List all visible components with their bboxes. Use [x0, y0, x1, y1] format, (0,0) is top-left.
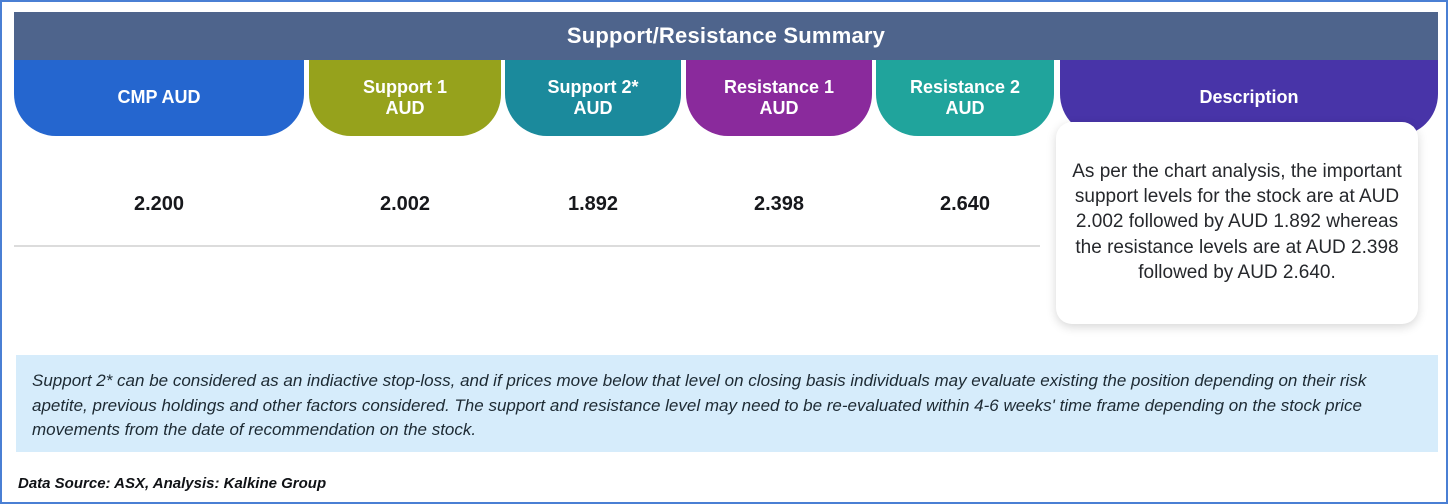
page-title: Support/Resistance Summary: [567, 25, 885, 47]
support-resistance-summary-panel: Support/Resistance Summary CMP AUD Suppo…: [0, 0, 1448, 504]
value-cmp: 2.200: [14, 194, 304, 214]
value-support2: 1.892: [505, 194, 681, 214]
description-text: As per the chart analysis, the important…: [1070, 159, 1404, 284]
column-header-cmp: CMP AUD: [14, 60, 304, 136]
disclaimer-note-text: Support 2* can be considered as an india…: [32, 369, 1422, 443]
value-support1: 2.002: [309, 194, 501, 214]
row-divider: [14, 245, 1040, 247]
column-header-resistance2: Resistance 2 AUD: [876, 60, 1054, 136]
value-resistance2: 2.640: [876, 194, 1054, 214]
panel-header-bar: Support/Resistance Summary: [14, 12, 1438, 60]
value-resistance1: 2.398: [686, 194, 872, 214]
column-header-support1-line2: AUD: [386, 98, 425, 119]
description-card: As per the chart analysis, the important…: [1056, 122, 1418, 324]
column-header-resistance2-line1: Resistance 2: [910, 77, 1020, 98]
column-header-description-line1: Description: [1199, 87, 1298, 108]
column-header-resistance1-line1: Resistance 1: [724, 77, 834, 98]
column-header-cmp-line1: CMP AUD: [117, 87, 200, 108]
data-source-label: Data Source: ASX, Analysis: Kalkine Grou…: [18, 476, 326, 491]
column-header-resistance2-line2: AUD: [946, 98, 985, 119]
column-header-resistance1: Resistance 1 AUD: [686, 60, 872, 136]
column-header-support1-line1: Support 1: [363, 77, 447, 98]
column-header-support1: Support 1 AUD: [309, 60, 501, 136]
column-header-support2-line2: AUD: [574, 98, 613, 119]
column-header-support2-line1: Support 2*: [547, 77, 638, 98]
column-header-support2: Support 2* AUD: [505, 60, 681, 136]
disclaimer-note-box: Support 2* can be considered as an india…: [16, 355, 1438, 452]
table-row: 2.200 2.002 1.892 2.398 2.640: [14, 136, 1040, 246]
column-header-resistance1-line2: AUD: [760, 98, 799, 119]
